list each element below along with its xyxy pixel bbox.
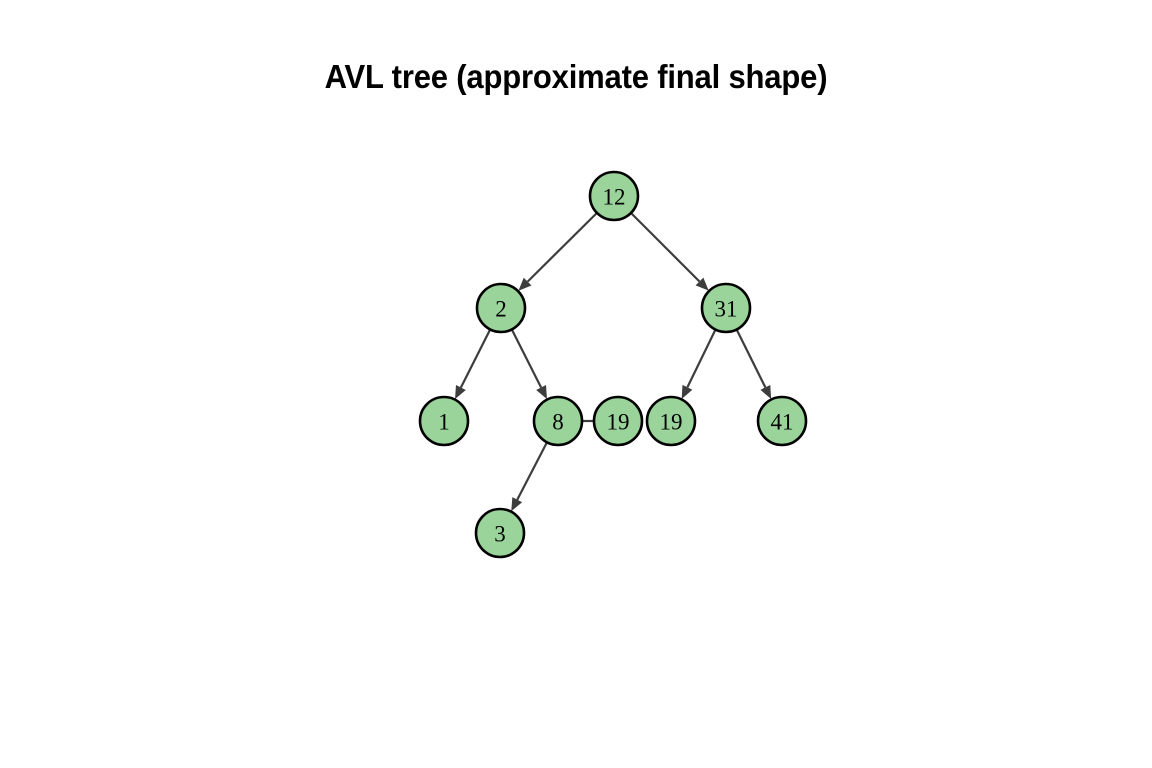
tree-node[interactable]: 2 (477, 284, 525, 332)
tree-node-label: 19 (660, 410, 683, 435)
tree-node[interactable]: 3 (476, 509, 524, 557)
avl-tree-graph: 12231181919413 (0, 0, 1152, 768)
tree-edge (461, 330, 490, 388)
tree-edge (528, 213, 597, 281)
tree-node[interactable]: 12 (590, 172, 638, 220)
tree-edge (517, 443, 546, 500)
tree-edge (687, 330, 715, 387)
edges-group (455, 213, 771, 511)
tree-node-label: 2 (495, 297, 507, 322)
tree-node[interactable]: 19 (647, 397, 695, 445)
tree-node-label: 19 (607, 410, 630, 435)
tree-edge (512, 330, 541, 388)
tree-node-label: 12 (603, 185, 626, 210)
tree-node-label: 1 (438, 410, 450, 435)
tree-node-label: 31 (715, 297, 738, 322)
diagram-canvas: AVL tree (approximate final shape) 12231… (0, 0, 1152, 768)
tree-node[interactable]: 41 (758, 397, 806, 445)
tree-node[interactable]: 19 (594, 397, 642, 445)
tree-node[interactable]: 1 (420, 397, 468, 445)
tree-node[interactable]: 31 (702, 284, 750, 332)
tree-edge (737, 330, 765, 387)
nodes-group: 12231181919413 (420, 172, 806, 557)
tree-node[interactable]: 8 (534, 397, 582, 445)
tree-node-label: 41 (771, 410, 794, 435)
tree-node-label: 3 (494, 522, 506, 547)
tree-node-label: 8 (552, 410, 564, 435)
tree-edge (631, 213, 699, 281)
